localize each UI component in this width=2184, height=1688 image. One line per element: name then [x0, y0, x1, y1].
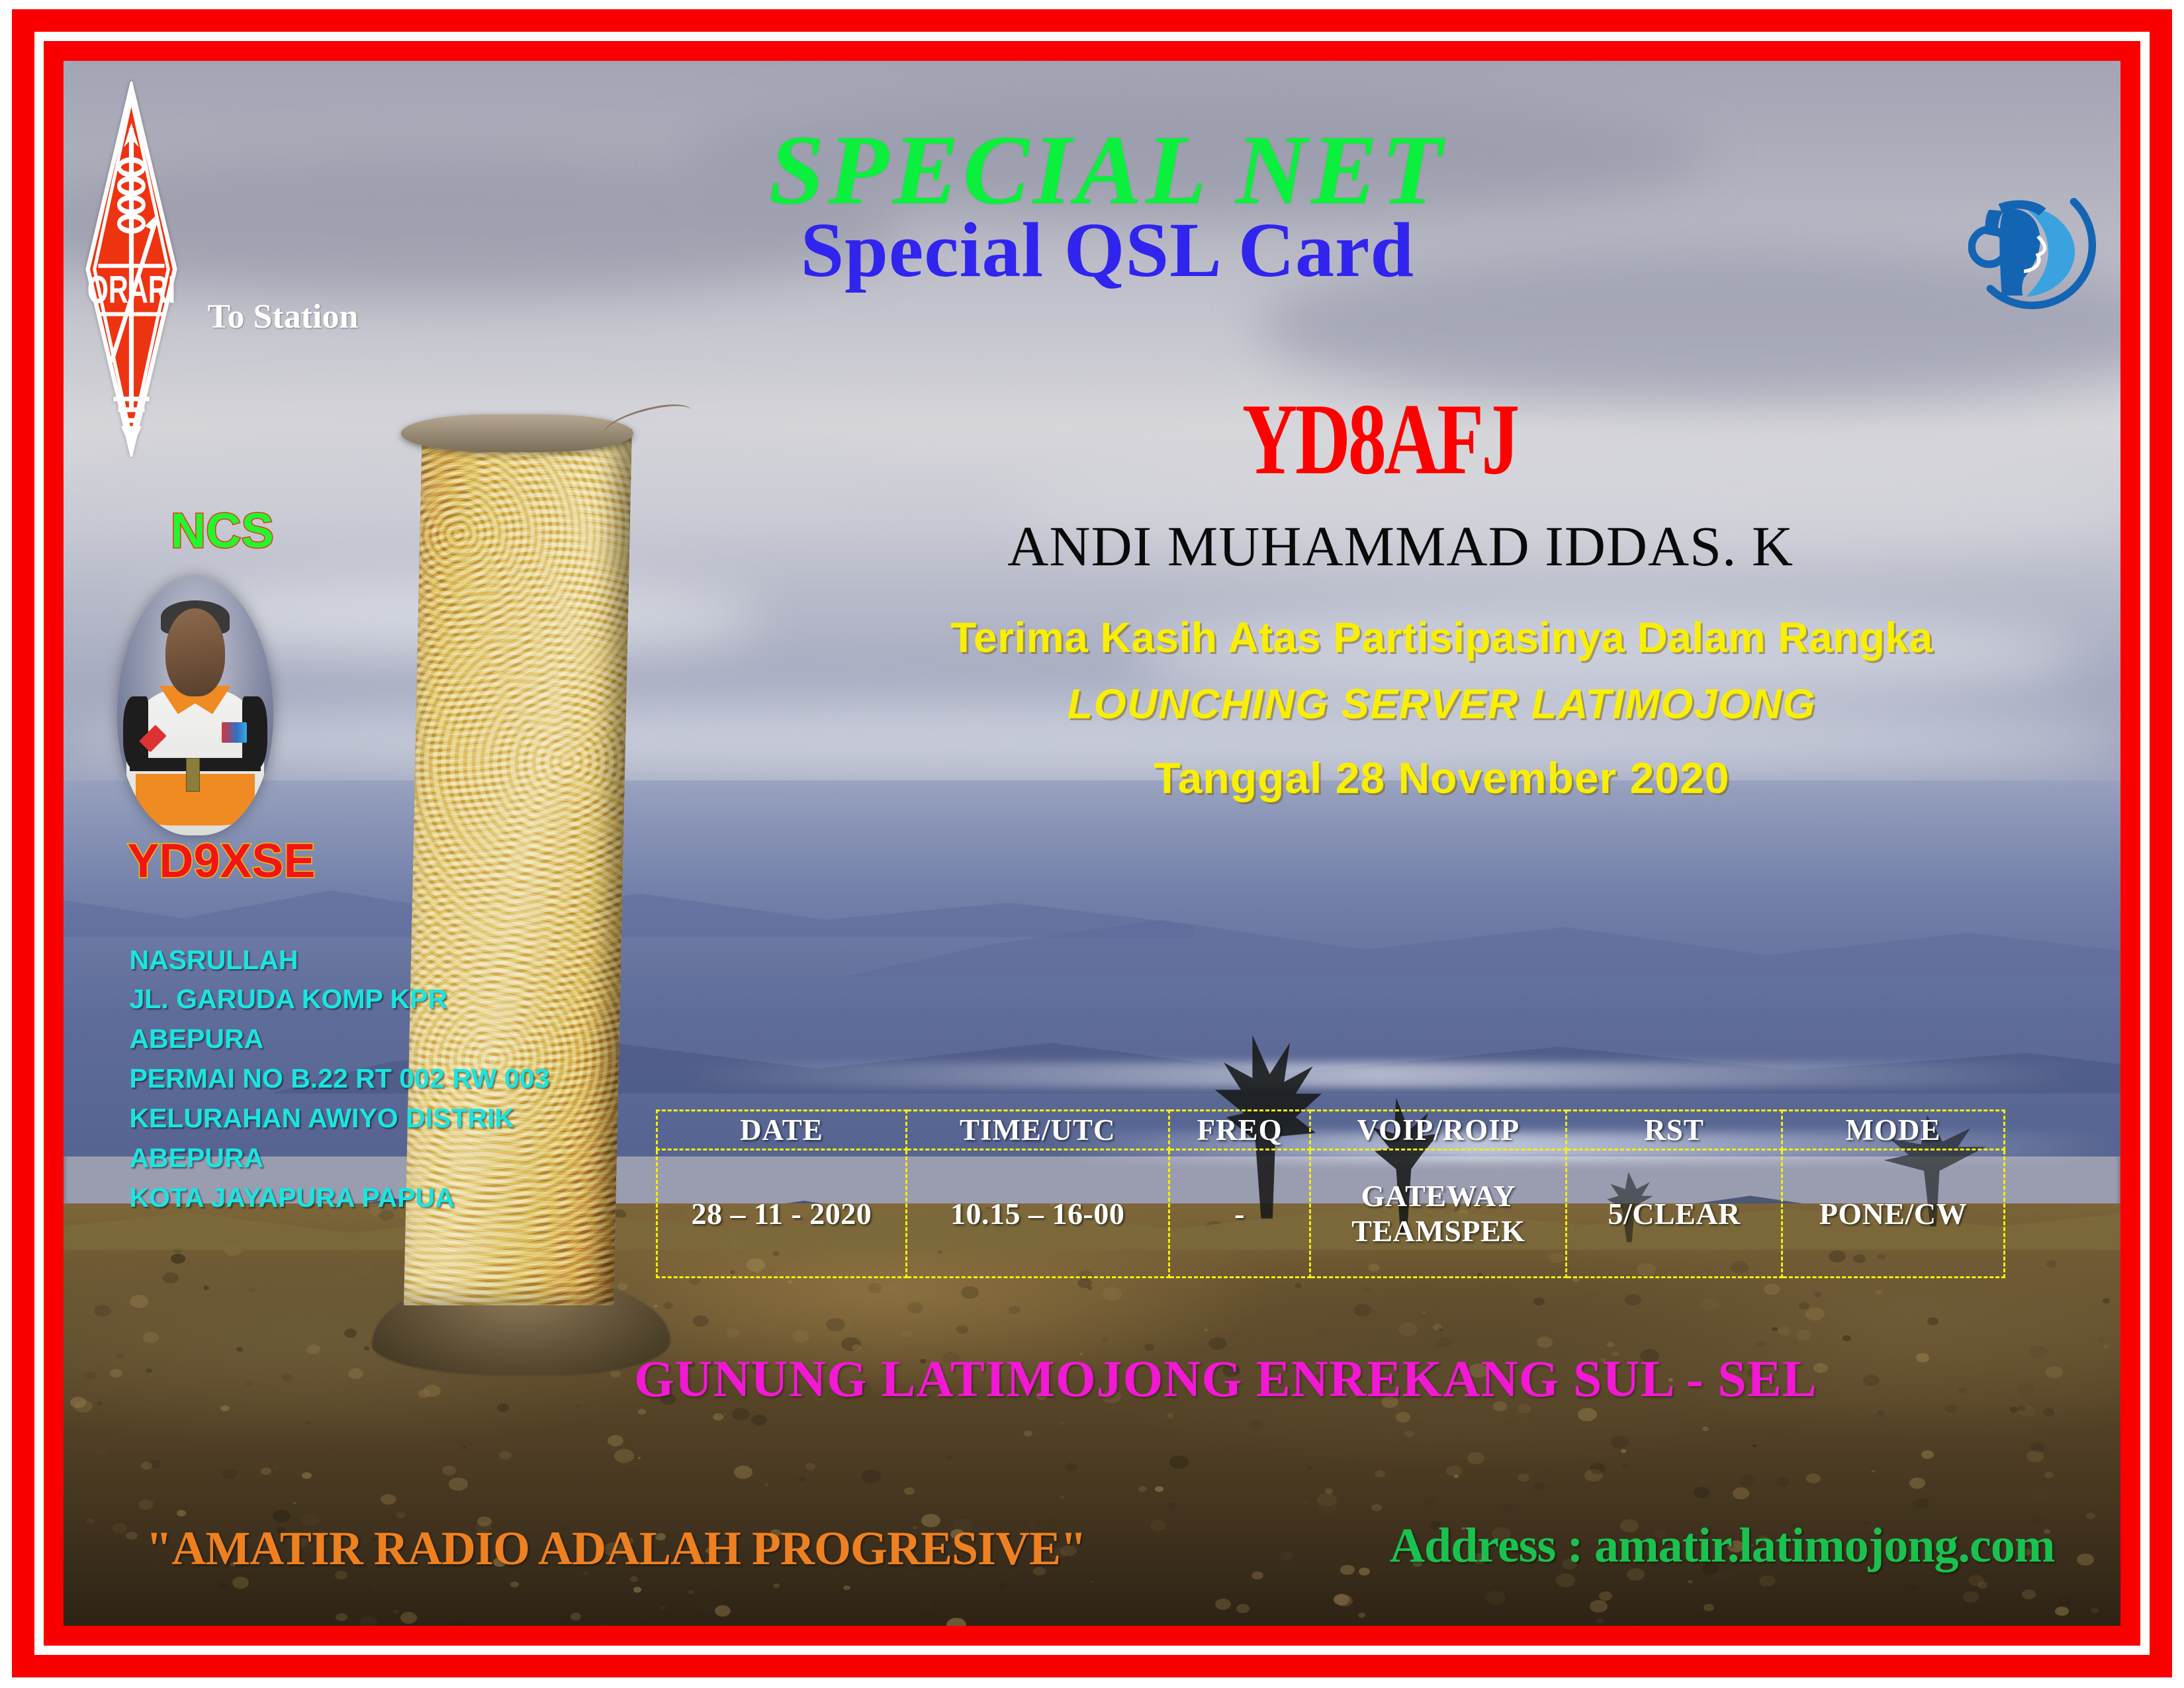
rock-speck [562, 1431, 570, 1437]
rock-speck [638, 1457, 641, 1459]
rock-speck [904, 1487, 915, 1495]
rock-speck [442, 1466, 456, 1476]
rock-speck [1621, 1449, 1626, 1453]
rock-speck [1607, 1342, 1614, 1347]
rock-speck [946, 1455, 952, 1460]
address-line: KOTA JAYAPURA PAPUA [129, 1178, 549, 1218]
rock-speck [1572, 1278, 1579, 1282]
rock-speck [160, 1439, 163, 1441]
rock-speck [2086, 1513, 2095, 1519]
rock-speck [1155, 1486, 1163, 1492]
rock-speck [1024, 1430, 1032, 1436]
rock-speck [1918, 1279, 1933, 1289]
rock-speck [1340, 1565, 1355, 1575]
rock-speck [141, 1462, 152, 1470]
rock-speck [249, 1288, 256, 1293]
rock-speck [396, 1511, 406, 1519]
rock-speck [2059, 1597, 2071, 1606]
operator-name: ANDI MUHAMMAD IDDAS. K [804, 518, 1997, 575]
thanks-line-3-date: Tanggal 28 November 2020 [845, 753, 2038, 803]
rock-speck [1778, 1327, 1791, 1336]
ncs-label: NCS [171, 502, 274, 559]
rock-speck [1921, 1450, 1934, 1459]
rock-speck [727, 1328, 739, 1337]
rock-speck [931, 1583, 945, 1593]
rock-speck [1533, 1482, 1545, 1491]
rock-speck [715, 1605, 731, 1617]
table-header-row: DATE TIME/UTC FREQ VOIP/ROIP RST MODE [657, 1110, 2005, 1149]
rock-speck [1150, 1520, 1166, 1531]
rock-speck [1404, 1430, 1414, 1437]
page-subtitle-qsl-card: Special QSL Card [64, 211, 2120, 289]
rock-speck [1336, 1595, 1353, 1607]
rock-speck [2046, 1260, 2057, 1268]
rock-speck [1759, 1575, 1776, 1587]
rock-speck [1843, 1335, 1851, 1341]
rock-speck [1424, 1499, 1435, 1506]
rock-speck [570, 1613, 581, 1620]
rock-speck [360, 1617, 377, 1626]
rock-speck [1814, 1291, 1822, 1297]
rock-speck [1208, 1337, 1226, 1350]
rock-speck [999, 1583, 1006, 1588]
rock-speck [1764, 1284, 1780, 1295]
rock-speck [1876, 1290, 1883, 1295]
rock-speck [1306, 1466, 1312, 1470]
rock-speck [688, 1590, 694, 1594]
rock-speck [2091, 1608, 2099, 1613]
rock-speck [1981, 1622, 2001, 1626]
rock-speck [1556, 1573, 1575, 1587]
rock-speck [1913, 1498, 1929, 1509]
rock-speck [693, 1315, 709, 1327]
rock-speck [792, 1330, 809, 1342]
rock-speck [2103, 1298, 2110, 1303]
rock-speck [1909, 1477, 1925, 1489]
rock-speck [630, 1576, 638, 1582]
rock-speck [1704, 1604, 1714, 1611]
rock-speck [449, 1477, 468, 1491]
uniform-id-card [186, 758, 200, 792]
rock-speck [373, 1276, 378, 1280]
rock-speck [1454, 1475, 1459, 1478]
rock-speck [1116, 1305, 1130, 1315]
rock-speck [1745, 1444, 1750, 1448]
rock-speck [1279, 1551, 1293, 1560]
background-photograph: ORARI SPECIAL NET Special QSL Card [64, 61, 2120, 1626]
rock-speck [1316, 1328, 1330, 1338]
rock-speck [1359, 1568, 1370, 1575]
rock-speck [596, 1624, 612, 1626]
rock-speck [1251, 1571, 1263, 1579]
rock-speck [1060, 1421, 1065, 1425]
rock-speck [724, 1413, 727, 1415]
rock-speck [695, 1599, 714, 1612]
rock-speck [371, 1583, 378, 1588]
rock-speck [946, 1618, 966, 1626]
rock-speck [232, 1577, 249, 1589]
monument-cap [401, 414, 633, 452]
rock-speck [330, 1303, 334, 1305]
rock-speck [2022, 1589, 2036, 1599]
rock-speck [1138, 1486, 1147, 1492]
rock-speck [1611, 1436, 1629, 1448]
rock-speck [400, 1612, 417, 1624]
rock-speck [1318, 1501, 1336, 1514]
rock-speck [2103, 1345, 2109, 1348]
rock-speck [1358, 1613, 1365, 1618]
address-line: ABEPURA [129, 1019, 549, 1059]
rock-speck [1169, 1503, 1176, 1508]
rock-speck [1396, 1412, 1410, 1423]
rock-speck [1805, 1307, 1825, 1321]
rock-speck [1009, 1306, 1021, 1314]
rock-speck [171, 1254, 185, 1264]
rock-speck [614, 1449, 634, 1463]
rock-speck [1486, 1591, 1506, 1605]
rock-speck [277, 1577, 286, 1583]
rock-speck [799, 1477, 807, 1482]
rock-speck [203, 1286, 209, 1290]
rock-speck [1596, 1618, 1604, 1624]
rock-speck [336, 1613, 347, 1621]
rock-speck [1303, 1501, 1307, 1504]
rock-speck [659, 1605, 666, 1610]
rock-speck [1756, 1341, 1764, 1347]
rock-speck [946, 1344, 950, 1347]
rock-speck [1167, 1413, 1174, 1419]
table-row: 28 – 11 - 2020 10.15 – 16-00 - GATEWAY T… [657, 1149, 2005, 1277]
rock-speck [805, 1463, 815, 1470]
thanks-line-2-event: LOUNCHING SERVER LATIMOJONG [845, 680, 2038, 728]
rock-speck [1433, 1342, 1442, 1348]
rock-speck [163, 1272, 179, 1284]
rock-speck [861, 1470, 881, 1483]
rock-speck [2055, 1607, 2069, 1616]
rock-speck [1422, 1311, 1426, 1314]
address-line: ABEPURA [129, 1139, 549, 1178]
cell-voip: GATEWAY TEAMSPEK [1310, 1149, 1567, 1277]
rock-speck [126, 1532, 138, 1540]
rock-speck [1872, 1470, 1875, 1472]
rock-speck [1518, 1474, 1529, 1481]
rock-speck [222, 1468, 238, 1479]
ncs-callsign: YD9XSE [127, 834, 315, 888]
rock-speck [1733, 1487, 1749, 1499]
rock-speck [1169, 1456, 1189, 1469]
rock-speck [764, 1483, 768, 1486]
rock-speck [1963, 1591, 1979, 1603]
rock-speck [596, 1582, 598, 1584]
rock-speck [751, 1415, 767, 1426]
cloud-glint [680, 1062, 2079, 1088]
rock-speck [1688, 1580, 1693, 1583]
cell-voip-line1: GATEWAY [1312, 1178, 1564, 1213]
rock-speck [956, 1325, 968, 1334]
rock-speck [868, 1283, 882, 1293]
rock-speck [293, 1502, 296, 1504]
rock-speck [1336, 1550, 1347, 1557]
rock-speck [734, 1466, 752, 1479]
rock-speck [655, 1418, 660, 1421]
rock-speck [654, 1305, 658, 1307]
rock-speck [559, 1617, 570, 1624]
rock-speck [1502, 1503, 1514, 1511]
qsl-card: ORARI SPECIAL NET Special QSL Card [0, 0, 2184, 1688]
rock-speck [138, 1499, 154, 1510]
rock-speck [1625, 1625, 1641, 1626]
rock-speck [713, 1413, 723, 1421]
rock-speck [1599, 1591, 1612, 1601]
rock-speck [392, 1609, 399, 1614]
rock-speck [510, 1581, 519, 1587]
rock-speck [788, 1280, 793, 1284]
rock-speck [1060, 1495, 1064, 1499]
rock-speck [1806, 1474, 1821, 1483]
rock-speck [1590, 1463, 1606, 1474]
rock-speck [1398, 1323, 1418, 1336]
rock-speck [1739, 1475, 1756, 1487]
rock-speck [1910, 1585, 1915, 1589]
rock-speck [499, 1451, 512, 1460]
rock-speck [633, 1587, 641, 1593]
address-line: KELURAHAN AWIYO DISTRIK [129, 1099, 549, 1139]
rock-speck [617, 1283, 627, 1290]
page-title-special-net: SPECIAL NET [64, 120, 2120, 220]
rock-speck [1295, 1283, 1302, 1288]
rock-speck [1102, 1287, 1122, 1301]
rock-speck [463, 1446, 466, 1448]
rock-speck [1537, 1336, 1553, 1348]
thanks-line-1: Terima Kasih Atas Partisipasinya Dalam R… [845, 613, 2038, 662]
rock-speck [177, 1510, 186, 1517]
rock-speck [1371, 1504, 1382, 1511]
qso-log-table: DATE TIME/UTC FREQ VOIP/ROIP RST MODE 28… [656, 1109, 2005, 1278]
rock-speck [2030, 1489, 2050, 1502]
rock-speck [1622, 1464, 1629, 1468]
rock-speck [359, 1266, 371, 1275]
rock-speck [1772, 1327, 1778, 1331]
rock-speck [2044, 1472, 2054, 1478]
rock-speck [961, 1286, 979, 1299]
rock-speck [1625, 1294, 1641, 1305]
cell-time: 10.15 – 16-00 [906, 1149, 1169, 1277]
rock-speck [2077, 1554, 2094, 1566]
rock-speck [1205, 1329, 1208, 1331]
rock-speck [852, 1324, 858, 1328]
rock-speck [1796, 1330, 1811, 1340]
footer-web-address: Address : amatir.latimojong.com [1390, 1518, 2055, 1574]
operator-face [165, 608, 225, 696]
rock-speck [1236, 1604, 1250, 1613]
rock-speck [843, 1585, 850, 1590]
column-header-freq: FREQ [1169, 1110, 1310, 1149]
cell-rst: 5/CLEAR [1567, 1149, 1782, 1277]
rock-speck [86, 1518, 95, 1524]
rock-speck [1702, 1427, 1709, 1431]
rock-speck [94, 1444, 109, 1454]
recipient-callsign: YD8AFJ [964, 389, 1796, 491]
rock-speck [608, 1435, 623, 1446]
rock-speck [907, 1302, 923, 1313]
rock-speck [2043, 1408, 2055, 1417]
rock-speck [1066, 1463, 1077, 1472]
ncs-postal-address: NASRULLAH JL. GARUDA KOMP KPR ABEPURA PE… [129, 941, 549, 1218]
rock-speck [1353, 1304, 1371, 1317]
rock-speck [826, 1318, 845, 1331]
address-line: NASRULLAH [129, 941, 549, 980]
cell-voip-line2: TEAMSPEK [1312, 1213, 1564, 1248]
cell-date: 28 – 11 - 2020 [657, 1149, 907, 1277]
address-line: JL. GARUDA KOMP KPR [129, 980, 549, 1019]
rock-speck [732, 1408, 750, 1421]
rock-speck [1776, 1477, 1790, 1487]
rock-speck [1090, 1581, 1093, 1583]
rock-speck [336, 1270, 351, 1281]
rock-speck [381, 1494, 396, 1505]
location-caption: GUNUNG LATIMOJONG ENREKANG SUL - SEL [64, 1349, 2120, 1409]
rock-speck [261, 1468, 271, 1475]
rock-speck [1578, 1408, 1597, 1421]
rock-speck [773, 1583, 780, 1588]
uniform-club-logo [222, 722, 247, 743]
rock-speck [1215, 1599, 1231, 1610]
footer-slogan: "AMATIR RADIO ADALAH PROGRESIVE" [146, 1521, 1086, 1576]
rock-speck [729, 1451, 741, 1460]
rock-speck [2097, 1338, 2104, 1342]
column-header-time: TIME/UTC [906, 1110, 1169, 1149]
rock-speck [1872, 1414, 1889, 1426]
address-line: PERMAI NO B.22 RT 002 RW 003 [129, 1059, 549, 1099]
rock-speck [1375, 1470, 1385, 1477]
rock-speck [1103, 1338, 1108, 1342]
rock-speck [344, 1329, 357, 1338]
rock-speck [148, 1251, 154, 1256]
rock-speck [1927, 1317, 1938, 1325]
rock-speck [1694, 1487, 1709, 1498]
rock-speck [1701, 1298, 1719, 1311]
column-header-date: DATE [657, 1110, 907, 1149]
rock-speck [624, 1462, 635, 1469]
rock-speck [1978, 1581, 1987, 1589]
rock-speck [768, 1338, 777, 1344]
rock-speck [302, 1472, 312, 1479]
rock-speck [306, 1421, 311, 1425]
rock-speck [1799, 1302, 1809, 1309]
rock-speck [1752, 1444, 1756, 1447]
rock-speck [640, 1619, 647, 1624]
rock-speck [901, 1330, 912, 1337]
rock-speck [918, 1600, 933, 1611]
rock-speck [130, 1295, 148, 1308]
rock-speck [113, 1523, 127, 1533]
rock-speck [711, 1585, 715, 1588]
cell-mode: PONE/CW [1782, 1149, 2004, 1277]
rock-speck [638, 1409, 646, 1415]
rock-speck [1467, 1452, 1484, 1464]
rock-speck [2030, 1442, 2045, 1453]
column-header-mode: MODE [1782, 1110, 2004, 1149]
column-header-rst: RST [1567, 1110, 1782, 1149]
rock-speck [824, 1311, 831, 1315]
rock-speck [1985, 1429, 1988, 1430]
rock-speck [663, 1302, 673, 1309]
rock-speck [1363, 1288, 1371, 1293]
cell-freq: - [1169, 1149, 1310, 1277]
rock-speck [1590, 1600, 1608, 1613]
to-station-label: To Station [208, 297, 359, 336]
column-header-voip: VOIP/ROIP [1310, 1110, 1567, 1149]
rock-speck [1087, 1286, 1093, 1290]
rock-speck [143, 1332, 159, 1343]
rock-speck [94, 1305, 111, 1317]
rock-speck [273, 1465, 279, 1469]
rock-speck [1533, 1297, 1545, 1305]
rock-speck [220, 1584, 227, 1589]
rock-speck [1250, 1420, 1263, 1429]
